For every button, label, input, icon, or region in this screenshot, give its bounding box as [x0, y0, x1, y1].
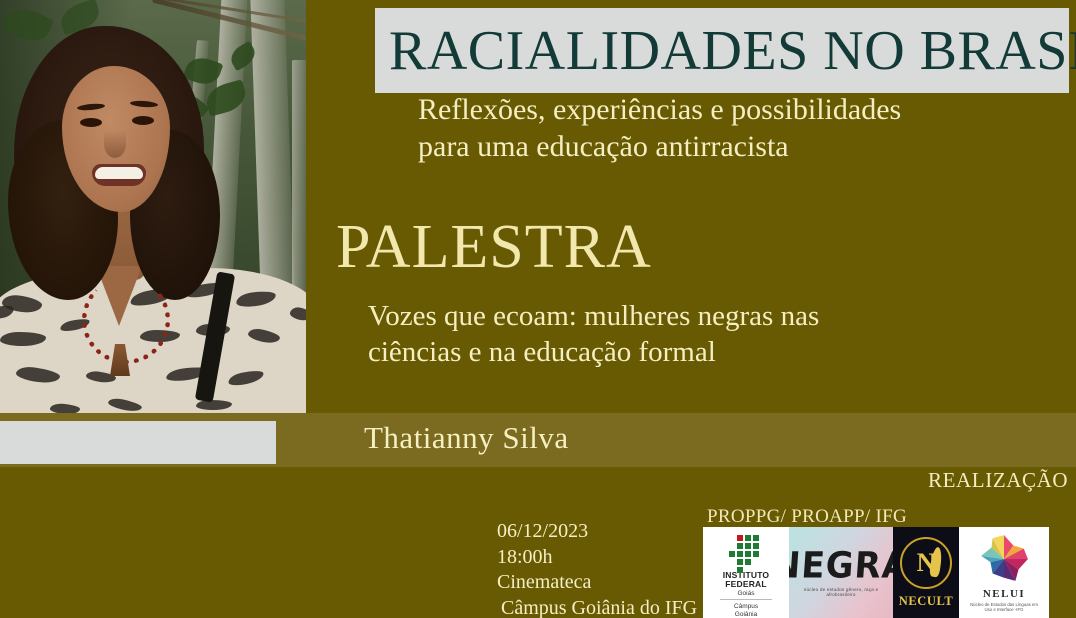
- event-date: 06/12/2023: [497, 519, 697, 545]
- animal-print-mark: [0, 332, 46, 346]
- negra-logo: NEGRA núcleo de estudos gênero, raça e a…: [789, 527, 893, 618]
- necult-logo: N NECULT: [893, 527, 959, 618]
- ifg-campus: Câmpus Goiânia: [734, 603, 758, 618]
- speaker-portrait-photo: [0, 0, 306, 430]
- sponsor-label: PROPPG/ PROAPP/ IFG: [707, 506, 907, 528]
- animal-print-mark: [289, 306, 306, 322]
- ifg-logo: INSTITUTO FEDERAL Goiás Câmpus Goiânia: [703, 527, 789, 618]
- event-venue: Cinemateca: [497, 570, 697, 596]
- nose: [104, 130, 126, 158]
- event-campus: Câmpus Goiânia do IFG: [501, 596, 697, 618]
- talk-title: Vozes que ecoam: mulheres negras nas ciê…: [368, 298, 978, 371]
- necult-emblem-icon: N: [900, 537, 952, 589]
- divider: [720, 599, 772, 600]
- negra-subtitle: núcleo de estudos gênero, raça e afrobra…: [789, 587, 893, 597]
- necult-wordmark: NECULT: [899, 594, 954, 609]
- eye: [132, 116, 154, 125]
- nelui-wordmark: NELUI: [983, 588, 1025, 600]
- ifg-campus-line-1: Câmpus: [734, 603, 758, 610]
- animal-print-mark: [227, 368, 265, 387]
- animal-print-mark: [196, 400, 232, 410]
- animal-print-mark: [235, 289, 277, 308]
- ifg-campus-line-2: Goiânia: [734, 611, 758, 618]
- animal-print-mark: [0, 304, 15, 321]
- ifg-line-federal: FEDERAL: [723, 580, 770, 589]
- page-title: RACIALIDADES NO BRASIL: [375, 23, 1076, 79]
- talk-title-line-2: ciências e na educação formal: [368, 334, 978, 370]
- animal-print-mark: [247, 327, 281, 345]
- event-details: 06/12/2023 18:00h Cinemateca Câmpus Goiâ…: [497, 519, 697, 618]
- subtitle-line-1: Reflexões, experiências e possibilidades: [418, 92, 1028, 129]
- nelui-logo: NELUI Núcleo de Estudos das Línguas em U…: [959, 527, 1049, 618]
- poster-subtitle: Reflexões, experiências e possibilidades…: [418, 92, 1028, 165]
- title-band: RACIALIDADES NO BRASIL: [375, 8, 1069, 93]
- pinwheel-star-icon: [978, 533, 1030, 585]
- ifg-state: Goiás: [738, 590, 755, 597]
- decorative-gray-box: [0, 421, 276, 464]
- negra-wordmark: NEGRA: [789, 547, 893, 583]
- talk-title-line-1: Vozes que ecoam: mulheres negras nas: [368, 298, 978, 334]
- event-type-heading: PALESTRA: [336, 216, 652, 278]
- teeth: [95, 167, 143, 179]
- smiling-mouth: [92, 164, 146, 186]
- sponsor-logo-row: INSTITUTO FEDERAL Goiás Câmpus Goiânia N…: [703, 527, 1049, 618]
- ifg-institute-text: INSTITUTO FEDERAL: [723, 571, 770, 589]
- instituto-federal-icon: [729, 535, 763, 568]
- speaker-name: Thatianny Silva: [364, 420, 569, 456]
- event-time: 18:00h: [497, 545, 697, 571]
- subtitle-line-2: para uma educação antirracista: [418, 129, 1028, 166]
- animal-print-mark: [15, 365, 61, 385]
- event-poster: RACIALIDADES NO BRASIL Reflexões, experi…: [0, 0, 1076, 618]
- animal-print-mark: [107, 397, 142, 414]
- eye: [80, 118, 102, 127]
- nelui-subtitle: Núcleo de Estudos das Línguas em Uso e I…: [967, 602, 1041, 613]
- realization-label: REALIZAÇÃO: [928, 468, 1068, 493]
